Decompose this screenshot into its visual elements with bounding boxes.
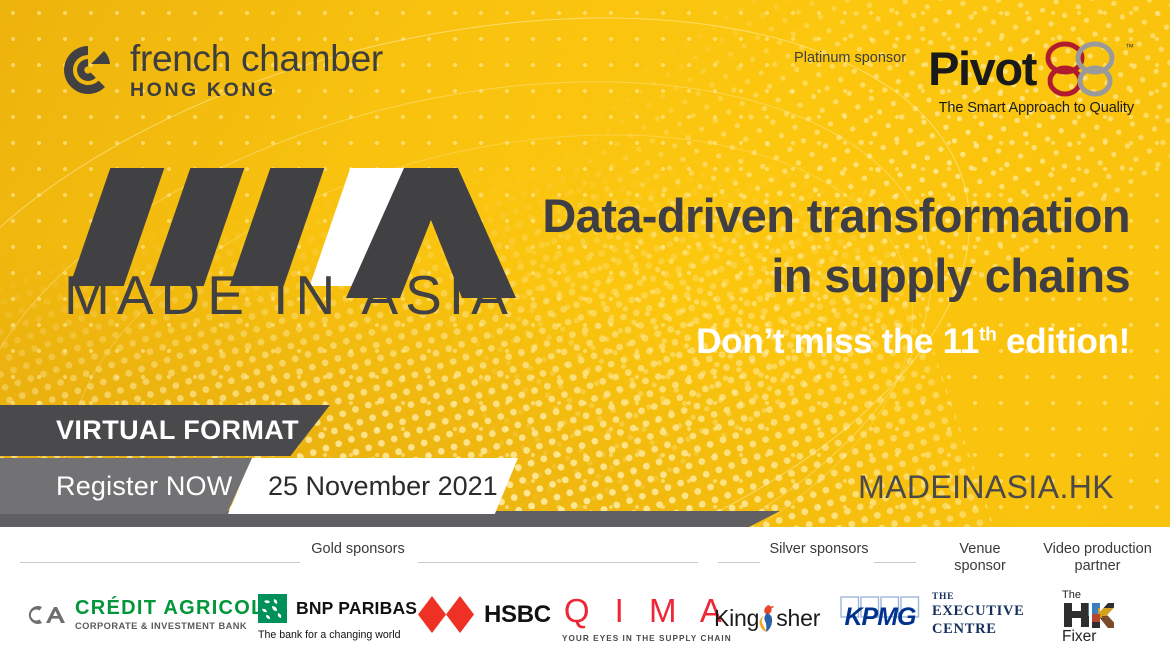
credit-agricole-ca-icon	[28, 604, 66, 626]
virtual-format-badge: VIRTUAL FORMAT	[0, 405, 330, 456]
sponsor-qima[interactable]: Q I M A YOUR EYES IN THE SUPPLY CHAIN	[562, 594, 732, 643]
sponsor-bnp-paribas[interactable]: BNP PARIBAS The bank for a changing worl…	[258, 594, 417, 641]
kingfisher-name: King sher	[714, 604, 820, 633]
bnp-paribas-row: BNP PARIBAS	[258, 594, 417, 623]
credit-agricole-text: CRÉDIT AGRICOLE CORPORATE & INVESTMENT B…	[75, 598, 279, 631]
sponsor-tier-labels: Gold sponsors Silver sponsors Venue spon…	[0, 541, 1170, 575]
hsbc-hexagon-icon	[418, 596, 474, 633]
sponsor-logos: CRÉDIT AGRICOLE CORPORATE & INVESTMENT B…	[0, 590, 1170, 652]
qima-name: Q I M A	[564, 594, 730, 627]
gold-sponsors-label: Gold sponsors	[303, 541, 413, 558]
hk-fixer-fixer: Fixer	[1062, 629, 1096, 645]
hk-fixer-hk-icon	[1062, 602, 1114, 628]
venue-sponsor-label: Venue sponsor	[930, 541, 1030, 576]
video-partner-label: Video production partner	[1030, 541, 1165, 576]
venue-label-line-2: sponsor	[930, 558, 1030, 575]
event-date-badge: 25 November 2021	[228, 458, 518, 514]
bnp-paribas-tagline: The bank for a changing world	[258, 629, 401, 641]
made-in-asia-logo: MADE IN ASIA	[72, 168, 502, 328]
silver-rule-right	[874, 562, 916, 563]
headline-line-1: Data-driven transformation	[490, 186, 1130, 246]
video-label-line-2: partner	[1030, 558, 1165, 575]
kpmg-logo-box: KPMG	[840, 596, 920, 630]
platinum-sponsor-block: Platinum sponsor Pivot ™ The Smart Appr	[794, 40, 1134, 116]
french-chamber-text: french chamber HONG KONG	[130, 40, 383, 101]
organizer-name: french chamber	[130, 40, 383, 77]
silver-sponsors-label: Silver sponsors	[764, 541, 874, 558]
subtitle-post: edition!	[997, 322, 1130, 361]
subtitle-pre: Don’t miss the 11	[696, 322, 979, 361]
hk-fixer-the: The	[1062, 590, 1081, 601]
hero-section: french chamber HONG KONG Platinum sponso…	[0, 0, 1170, 527]
sponsor-hk-fixer[interactable]: The	[1062, 590, 1114, 645]
website-link[interactable]: MADEINASIA.HK	[858, 469, 1114, 506]
video-label-line-1: Video production	[1030, 541, 1165, 558]
pivot88-logo-row: Pivot ™	[928, 40, 1134, 98]
kingfisher-name-pre: King	[714, 605, 759, 632]
event-date-label: 25 November 2021	[268, 471, 498, 502]
kpmg-name: KPMG	[840, 603, 920, 632]
sponsor-credit-agricole[interactable]: CRÉDIT AGRICOLE CORPORATE & INVESTMENT B…	[28, 598, 279, 631]
gold-rule-right	[418, 562, 698, 563]
sponsor-executive-centre[interactable]: THE EXECUTIVE CENTRE	[932, 592, 1025, 638]
french-chamber-logo: french chamber HONG KONG	[60, 40, 383, 101]
pivot88-rings-icon	[1037, 40, 1125, 98]
register-now-button[interactable]: Register NOW	[0, 458, 252, 514]
credit-agricole-sub: CORPORATE & INVESTMENT BANK	[75, 621, 279, 631]
subtitle-ordinal: th	[979, 325, 997, 346]
venue-label-line-1: Venue	[930, 541, 1030, 558]
executive-centre-line-2: EXECUTIVE	[932, 602, 1025, 620]
kingfisher-bird-icon	[758, 604, 777, 633]
pivot88-tagline: The Smart Approach to Quality	[939, 100, 1134, 116]
headline-block: Data-driven transformation in supply cha…	[490, 186, 1130, 362]
headline-line-2: in supply chains	[490, 246, 1130, 306]
hsbc-name: HSBC	[484, 601, 551, 629]
silver-rule-left	[718, 562, 760, 563]
french-chamber-c-mark	[60, 42, 116, 98]
pivot88-trademark: ™	[1125, 42, 1134, 52]
event-banner: french chamber HONG KONG Platinum sponso…	[0, 0, 1170, 657]
bnp-paribas-stars-icon	[258, 594, 287, 623]
sponsor-footer: Gold sponsors Silver sponsors Venue spon…	[0, 527, 1170, 657]
kingfisher-name-post: sher	[776, 605, 820, 632]
gold-rule-left	[20, 562, 300, 563]
sponsor-kingfisher[interactable]: King sher	[714, 604, 820, 633]
made-in-asia-wordmark: MADE IN ASIA	[64, 268, 515, 323]
pivot88-logo: Pivot ™ The Smart Approach to Quality	[928, 40, 1134, 116]
qima-tagline: YOUR EYES IN THE SUPPLY CHAIN	[562, 634, 732, 643]
platinum-sponsor-label: Platinum sponsor	[794, 50, 906, 66]
bnp-paribas-name: BNP PARIBAS	[296, 598, 417, 619]
virtual-format-label: VIRTUAL FORMAT	[56, 415, 299, 446]
register-now-label: Register NOW	[56, 471, 232, 502]
organizer-location: HONG KONG	[130, 81, 383, 101]
executive-centre-line-3: CENTRE	[932, 620, 997, 638]
pivot88-wordmark: Pivot	[928, 47, 1036, 92]
sponsor-hsbc[interactable]: HSBC	[418, 596, 551, 633]
executive-centre-line-1: THE	[932, 592, 954, 602]
sponsor-kpmg[interactable]: KPMG	[840, 596, 920, 630]
credit-agricole-name: CRÉDIT AGRICOLE	[75, 598, 279, 618]
headline-subtitle: Don’t miss the 11th edition!	[490, 322, 1130, 362]
